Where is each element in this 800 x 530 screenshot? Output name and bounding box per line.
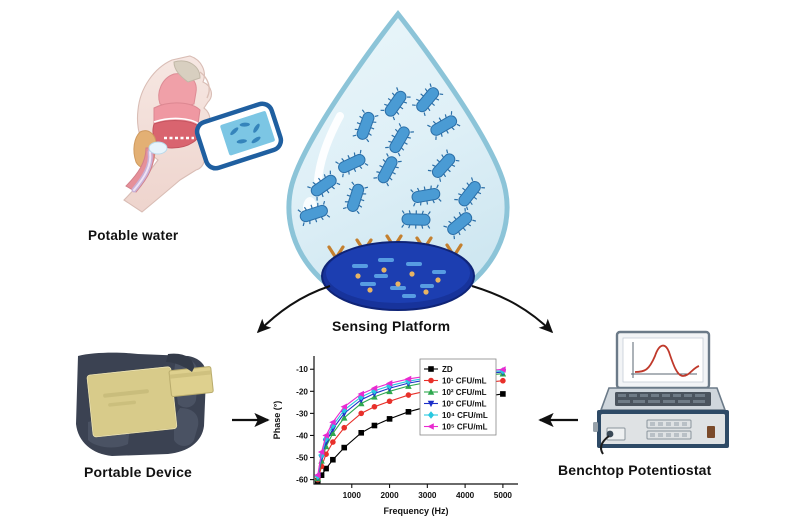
legend-label: ZD [442, 365, 453, 374]
potable-water-label: Potable water [88, 228, 178, 243]
data-point [500, 378, 505, 383]
data-point [372, 404, 377, 409]
portable-device-label: Portable Device [84, 464, 192, 480]
x-axis-title: Frequency (Hz) [383, 506, 448, 516]
legend-label: 10⁵ CFU/mL [442, 423, 488, 432]
chart-legend: ZD10¹ CFU/mL10² CFU/mL10³ CFU/mL10⁴ CFU/… [420, 359, 496, 435]
data-point [359, 430, 364, 435]
water-droplet-icon [248, 8, 548, 328]
y-tick-label: -20 [296, 387, 308, 396]
data-point [342, 445, 347, 450]
instrument-box-icon [585, 330, 745, 460]
data-point [387, 416, 392, 421]
legend-label: 10² CFU/mL [442, 388, 487, 397]
data-point [330, 440, 335, 445]
phase-vs-frequency-chart: -60-50-40-30-20-1010002000300040005000Fr… [268, 346, 530, 522]
legend-label: 10¹ CFU/mL [442, 377, 487, 386]
y-tick-label: -10 [296, 365, 308, 374]
x-tick-label: 1000 [343, 491, 362, 500]
electrode-chip-icon [322, 242, 474, 310]
data-point [406, 409, 411, 414]
portable-device-panel [68, 352, 228, 460]
data-point [429, 367, 434, 372]
data-point [372, 423, 377, 428]
data-point [324, 466, 329, 471]
x-tick-label: 2000 [380, 491, 399, 500]
data-point [330, 457, 335, 462]
sensing-platform-panel [248, 8, 548, 328]
data-point [500, 391, 505, 396]
benchtop-potentiostat-label: Benchtop Potentiostat [558, 462, 712, 478]
sensing-platform-label: Sensing Platform [332, 318, 450, 334]
figure-canvas: Potable water [0, 0, 800, 530]
y-tick-label: -30 [296, 409, 308, 418]
x-tick-label: 3000 [418, 491, 437, 500]
data-point [429, 378, 434, 383]
gloved-hand-icon [68, 352, 228, 460]
data-point [406, 393, 411, 398]
legend-label: 10³ CFU/mL [442, 400, 487, 409]
x-tick-label: 4000 [456, 491, 475, 500]
y-axis-title: Phase (°) [272, 401, 282, 440]
data-point [342, 425, 347, 430]
laptop-icon [601, 332, 725, 410]
data-point [359, 411, 364, 416]
x-tick-label: 5000 [494, 491, 513, 500]
y-tick-label: -40 [296, 431, 308, 440]
data-point [387, 399, 392, 404]
benchtop-potentiostat-panel [585, 330, 745, 460]
legend-label: 10⁴ CFU/mL [442, 411, 488, 420]
y-tick-label: -50 [296, 454, 308, 463]
y-tick-label: -60 [296, 476, 308, 485]
